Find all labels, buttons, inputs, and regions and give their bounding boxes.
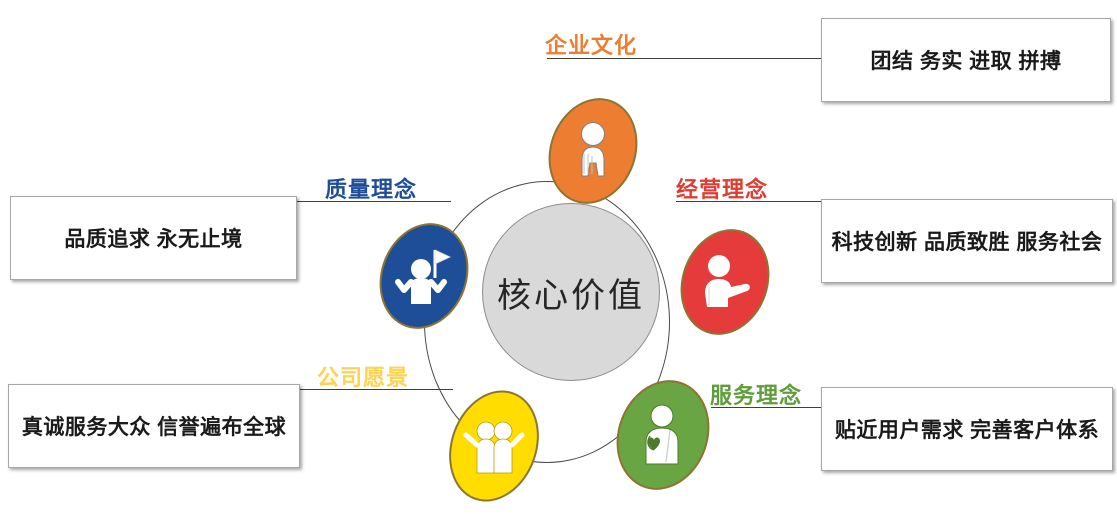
branch-label-culture[interactable]: 企业文化 [545, 28, 637, 60]
branch-label-service[interactable]: 服务理念 [710, 378, 802, 410]
branch-label-vision[interactable]: 公司愿景 [317, 360, 409, 392]
detail-box-culture[interactable]: 团结 务实 进取 拼搏 [821, 18, 1111, 102]
person-reaching-icon [666, 217, 784, 348]
detail-box-vision[interactable]: 真诚服务大众 信誉遍布全球 [8, 384, 300, 468]
two-people-cheering-glyph [462, 413, 526, 479]
core-values-diagram: 核心价值 [0, 0, 1117, 504]
branch-label-business[interactable]: 经营理念 [676, 172, 768, 204]
detail-text-business: 科技创新 品质致胜 服务社会 [832, 226, 1103, 256]
core-value-circle: 核心价值 [482, 203, 660, 381]
detail-text-vision: 真诚服务大众 信誉遍布全球 [22, 411, 286, 441]
detail-text-culture: 团结 务实 进取 拼搏 [870, 45, 1061, 75]
branch-label-quality[interactable]: 质量理念 [325, 172, 417, 204]
detail-text-service: 贴近用户需求 完善客户体系 [835, 414, 1099, 444]
person-with-heart-glyph [634, 402, 692, 468]
detail-box-quality[interactable]: 品质追求 永无止境 [10, 196, 297, 280]
core-value-label: 核心价值 [497, 268, 645, 317]
person-reaching-glyph [695, 253, 755, 311]
person-with-flag-glyph [394, 244, 454, 308]
person-standing-glyph [570, 120, 616, 182]
detail-text-quality: 品质追求 永无止境 [64, 223, 242, 253]
detail-box-business[interactable]: 科技创新 品质致胜 服务社会 [821, 199, 1113, 283]
detail-box-service[interactable]: 贴近用户需求 完善客户体系 [821, 387, 1113, 471]
